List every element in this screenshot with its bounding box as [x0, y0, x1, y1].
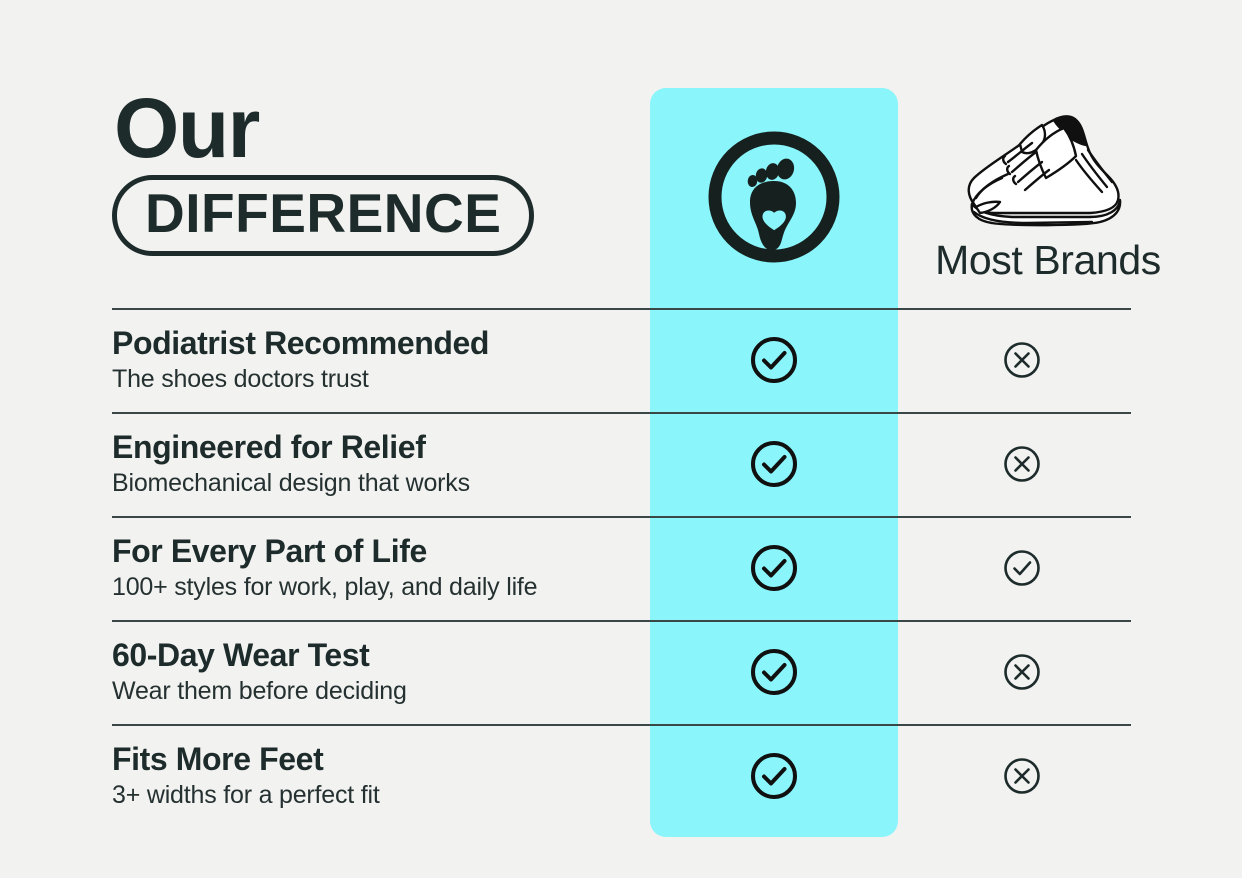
x-circle-icon	[1002, 444, 1042, 484]
row-subtitle: Wear them before deciding	[112, 676, 632, 706]
page-title-line1: Our	[114, 88, 582, 169]
competitor-cell	[898, 308, 1146, 412]
check-circle-icon	[749, 647, 799, 697]
check-circle-icon	[1002, 548, 1042, 588]
check-circle-icon	[749, 335, 799, 385]
comparison-chart: Our DIFFERENCE	[0, 0, 1242, 878]
brand-cell	[650, 412, 898, 516]
row-title: Podiatrist Recommended	[112, 326, 632, 362]
table-row: For Every Part of Life 100+ styles for w…	[0, 516, 1242, 620]
brand-logo-cell	[650, 88, 898, 306]
row-title: Fits More Feet	[112, 742, 632, 778]
row-title: Engineered for Relief	[112, 430, 632, 466]
table-row: 60-Day Wear Test Wear them before decidi…	[0, 620, 1242, 724]
check-circle-icon	[749, 751, 799, 801]
table-row: Engineered for Relief Biomechanical desi…	[0, 412, 1242, 516]
brand-cell	[650, 724, 898, 828]
row-label: For Every Part of Life 100+ styles for w…	[112, 516, 632, 620]
page-title: Our DIFFERENCE	[112, 88, 582, 256]
brand-cell	[650, 308, 898, 412]
competitor-cell	[898, 620, 1146, 724]
check-circle-icon	[749, 439, 799, 489]
row-label: 60-Day Wear Test Wear them before decidi…	[112, 620, 632, 724]
competitor-header-cell: Most Brands	[898, 88, 1198, 306]
chart-header: Our DIFFERENCE	[0, 0, 1242, 308]
row-label: Engineered for Relief Biomechanical desi…	[112, 412, 632, 516]
row-title: 60-Day Wear Test	[112, 638, 632, 674]
competitor-cell	[898, 412, 1146, 516]
x-circle-icon	[1002, 340, 1042, 380]
row-subtitle: 3+ widths for a perfect fit	[112, 780, 632, 810]
page-title-line2: DIFFERENCE	[145, 186, 501, 241]
row-label: Podiatrist Recommended The shoes doctors…	[112, 308, 632, 412]
check-circle-icon	[749, 543, 799, 593]
x-circle-icon	[1002, 652, 1042, 692]
table-row: Fits More Feet 3+ widths for a perfect f…	[0, 724, 1242, 828]
row-subtitle: The shoes doctors trust	[112, 364, 632, 394]
competitor-label: Most Brands	[935, 240, 1161, 281]
page-title-pill: DIFFERENCE	[112, 175, 534, 256]
sneaker-illustration-icon	[950, 92, 1146, 234]
row-title: For Every Part of Life	[112, 534, 632, 570]
row-subtitle: 100+ styles for work, play, and daily li…	[112, 572, 632, 602]
comparison-rows: Podiatrist Recommended The shoes doctors…	[0, 308, 1242, 828]
brand-cell	[650, 516, 898, 620]
row-label: Fits More Feet 3+ widths for a perfect f…	[112, 724, 632, 828]
x-circle-icon	[1002, 756, 1042, 796]
competitor-cell	[898, 724, 1146, 828]
brand-cell	[650, 620, 898, 724]
table-row: Podiatrist Recommended The shoes doctors…	[0, 308, 1242, 412]
competitor-cell	[898, 516, 1146, 620]
foot-in-circle-logo-icon	[703, 126, 845, 268]
row-subtitle: Biomechanical design that works	[112, 468, 632, 498]
